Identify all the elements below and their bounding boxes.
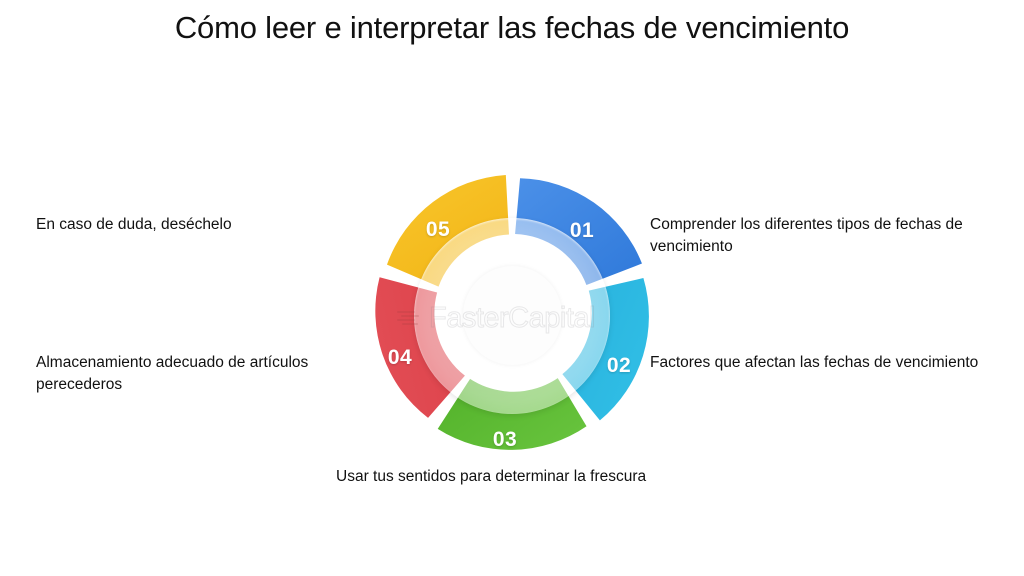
- donut-center-hole: [463, 266, 562, 365]
- segment-number-04: 04: [388, 346, 412, 370]
- segment-number-02: 02: [607, 354, 631, 378]
- segment-number-05: 05: [426, 218, 450, 242]
- callout-label-05: En caso de duda, deséchelo: [36, 214, 336, 236]
- page-title: Cómo leer e interpretar las fechas de ve…: [0, 8, 1024, 48]
- callout-label-01: Comprender los diferentes tipos de fecha…: [650, 214, 990, 258]
- segment-number-03: 03: [493, 428, 517, 452]
- callout-label-03: Usar tus sentidos para determinar la fre…: [336, 466, 666, 488]
- segment-number-01: 01: [570, 219, 594, 243]
- donut-cycle-diagram: 01 02 03 04 05: [378, 178, 648, 448]
- callout-label-02: Factores que afectan las fechas de venci…: [650, 352, 980, 374]
- callout-label-04: Almacenamiento adecuado de artículos per…: [36, 352, 336, 396]
